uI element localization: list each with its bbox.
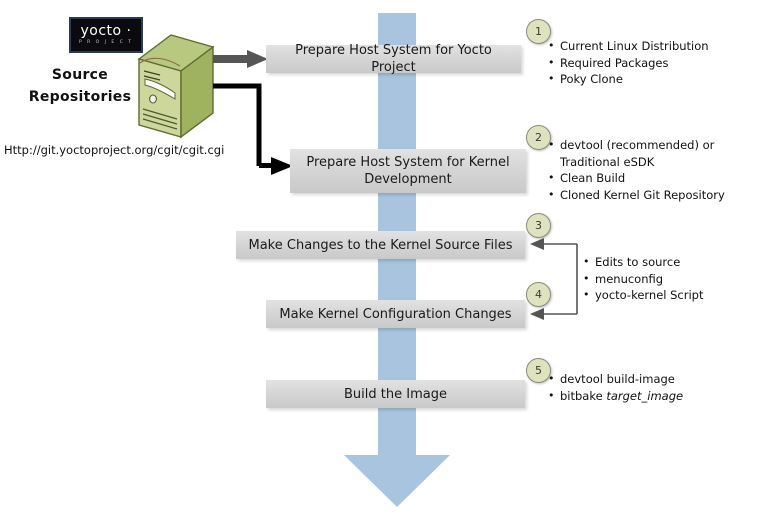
connector-server-to-step2 (213, 82, 293, 176)
note-item: Clean Build (548, 170, 763, 187)
note-item: Edits to source (583, 254, 763, 271)
flow-arrow-head (344, 455, 450, 507)
note-command-argument: target_image (606, 389, 683, 403)
process-box-make-kernel-source-changes[interactable]: Make Changes to the Kernel Source Files (236, 231, 525, 259)
note-item: Required Packages (548, 55, 763, 72)
process-box-prepare-host-yocto[interactable]: Prepare Host System for Yocto Project (266, 45, 521, 73)
note-item: Cloned Kernel Git Repository (548, 187, 763, 204)
notes-step-1: Current Linux Distribution Required Pack… (548, 38, 763, 88)
step-circle-4: 4 (526, 282, 551, 307)
yocto-logo-subtitle: P R O J E C T (79, 39, 133, 46)
source-repository-url: Http://git.yoctoproject.org/cgit/cgit.cg… (4, 143, 234, 157)
note-item: Poky Clone (548, 71, 763, 88)
yocto-logo-word: yocto · (80, 25, 131, 38)
note-item: Current Linux Distribution (548, 38, 763, 55)
yocto-project-logo: yocto · P R O J E C T (69, 17, 143, 53)
note-item: devtool build-image (548, 371, 763, 388)
source-repositories-label: Source Repositories (20, 64, 140, 108)
note-item: menuconfig (583, 271, 763, 288)
note-item: bitbake target_image (548, 388, 763, 405)
note-item: devtool (recommended) or Traditional eSD… (548, 137, 763, 170)
note-item: yocto-kernel Script (583, 287, 763, 304)
diagram-canvas: yocto · P R O J E C T Source Repositorie… (0, 0, 769, 517)
source-label-line2: Repositories (20, 86, 140, 108)
notes-step-2: devtool (recommended) or Traditional eSD… (548, 137, 763, 203)
process-box-build-image[interactable]: Build the Image (266, 380, 525, 408)
notes-step-5: devtool build-image bitbake target_image (548, 371, 763, 404)
process-box-make-kernel-config-changes[interactable]: Make Kernel Configuration Changes (266, 300, 525, 328)
connector-server-to-step1 (213, 50, 268, 68)
source-label-line1: Source (20, 64, 140, 86)
note-command-prefix: bitbake (560, 389, 606, 403)
notes-steps-3-4: Edits to source menuconfig yocto-kernel … (583, 254, 763, 304)
process-box-prepare-host-kernel[interactable]: Prepare Host System for Kernel Developme… (290, 149, 526, 193)
connector-notes-to-steps-3-4 (522, 236, 584, 322)
server-icon (135, 33, 217, 141)
step-circle-3: 3 (526, 213, 551, 238)
